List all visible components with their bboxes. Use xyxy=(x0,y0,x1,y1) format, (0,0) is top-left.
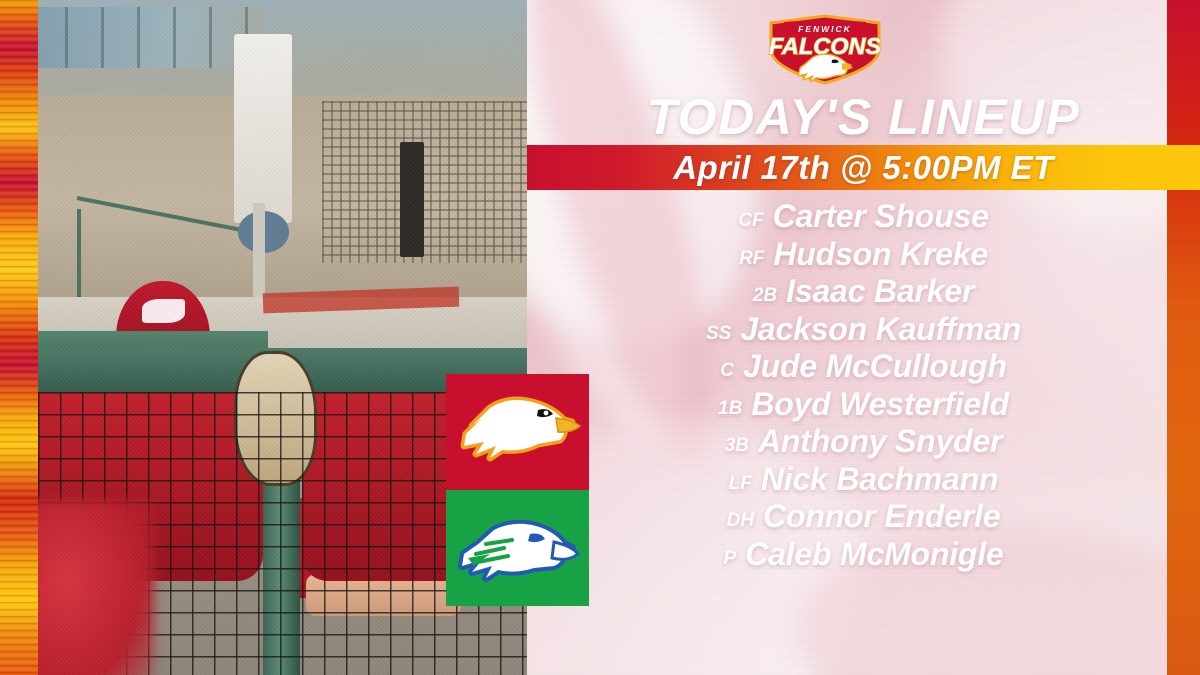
lineup-player-name: Carter Shouse xyxy=(773,198,989,235)
lineup-row: CJude McCullough xyxy=(527,348,1200,386)
lineup-position: 3B xyxy=(725,435,749,457)
photo-camera-housing xyxy=(234,34,293,223)
lineup-player-name: Caleb McMonigle xyxy=(745,536,1003,573)
lineup-player-name: Hudson Kreke xyxy=(773,236,988,273)
lineup-row: DHConnor Enderle xyxy=(527,498,1200,536)
photo-dark-post xyxy=(400,142,424,257)
lineup-player-name: Nick Bachmann xyxy=(761,461,998,498)
photo-foreground-blur xyxy=(38,500,155,675)
lineup-player-name: Boyd Westerfield xyxy=(751,386,1009,423)
lineup-player-name: Isaac Barker xyxy=(786,273,974,310)
lineup-player-name: Jackson Kauffman xyxy=(740,311,1021,348)
date-time-text: April 17th @ 5:00PM ET xyxy=(673,149,1054,187)
lineup-position: LF xyxy=(729,473,752,495)
lineup-position: P xyxy=(723,548,736,570)
lineup-list: CFCarter ShouseRFHudson Kreke2BIsaac Bar… xyxy=(527,198,1200,573)
lineup-row: SSJackson Kauffman xyxy=(527,311,1200,349)
lineup-graphic: FENWICK FALCONS TODAY'S LINEUP April 17t… xyxy=(0,0,1200,675)
lineup-position: 2B xyxy=(753,285,777,307)
lineup-position: RF xyxy=(739,248,764,270)
lineup-row: RFHudson Kreke xyxy=(527,236,1200,274)
lineup-position: SS xyxy=(706,323,731,345)
lineup-position: 1B xyxy=(718,398,742,420)
lineup-row: PCaleb McMonigle xyxy=(527,536,1200,574)
photo-window-band xyxy=(38,7,263,68)
lineup-row: 2BIsaac Barker xyxy=(527,273,1200,311)
date-time-bar: April 17th @ 5:00PM ET xyxy=(527,145,1200,190)
lineup-row: 3BAnthony Snyder xyxy=(527,423,1200,461)
photo-fence-mesh xyxy=(322,101,527,263)
left-edge-stripe xyxy=(0,0,38,675)
cap-logo-mark xyxy=(142,299,185,323)
logo-wordmark-top: FENWICK xyxy=(798,24,852,34)
lineup-row: CFCarter Shouse xyxy=(527,198,1200,236)
lineup-player-name: Connor Enderle xyxy=(763,498,1000,535)
lineup-player-name: Jude McCullough xyxy=(743,348,1007,385)
lineup-position: C xyxy=(720,360,734,382)
page-title: TODAY'S LINEUP xyxy=(527,88,1200,146)
lineup-player-name: Anthony Snyder xyxy=(758,423,1002,460)
lineup-row: LFNick Bachmann xyxy=(527,461,1200,499)
lineup-position: CF xyxy=(738,210,763,232)
lineup-row: 1BBoyd Westerfield xyxy=(527,386,1200,424)
fenwick-falcons-logo: FENWICK FALCONS xyxy=(764,12,886,86)
lineup-position: DH xyxy=(727,510,754,532)
